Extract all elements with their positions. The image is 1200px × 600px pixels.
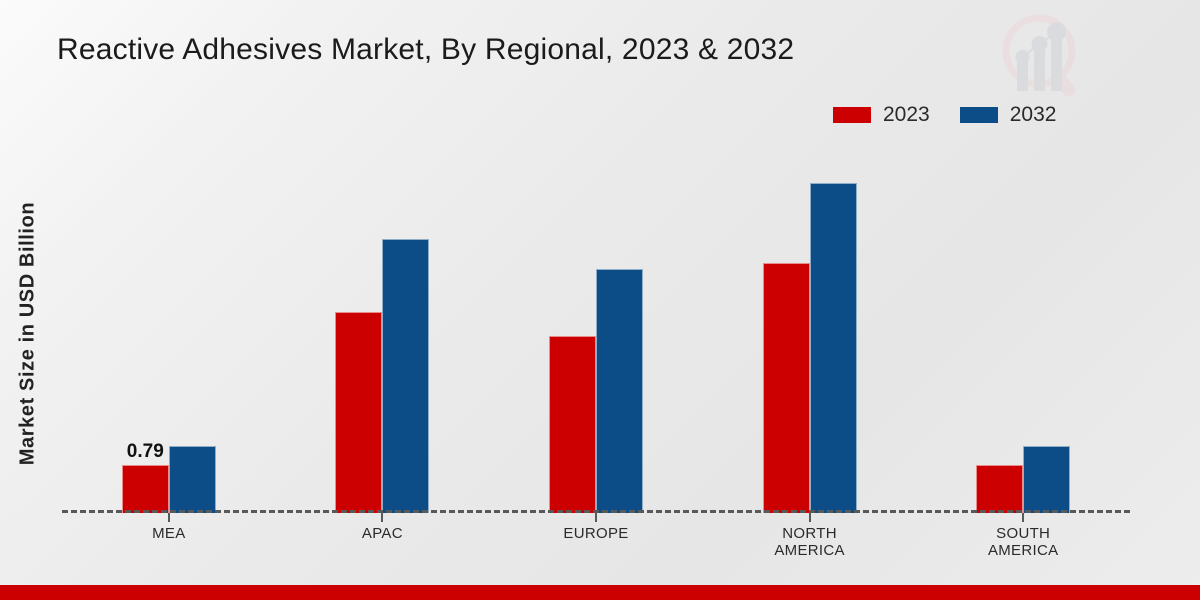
- bar-mea-2023[interactable]: 0.79: [122, 465, 169, 513]
- legend-swatch-2023: [833, 107, 871, 123]
- bar-south-america-2032[interactable]: [1023, 446, 1070, 513]
- axis-tick-north-america: [809, 513, 811, 522]
- footer-accent-bar: [0, 585, 1200, 600]
- page-title: Reactive Adhesives Market, By Regional, …: [57, 33, 794, 67]
- bar-apac-2023[interactable]: [335, 312, 382, 513]
- x-label-north-america: NORTH AMERICA: [703, 525, 917, 559]
- bar-group-south-america: [916, 150, 1130, 513]
- legend-item-2023[interactable]: 2023: [833, 103, 930, 127]
- x-label-south-america: SOUTH AMERICA: [916, 525, 1130, 559]
- x-axis-labels: MEA APAC EUROPE NORTH AMERICA SOUTH AMER…: [62, 525, 1130, 559]
- y-axis-title: Market Size in USD Billion: [17, 164, 40, 504]
- x-label-mea: MEA: [62, 525, 276, 559]
- bar-north-america-2023[interactable]: [763, 263, 810, 513]
- bar-value-mea-2023: 0.79: [127, 441, 164, 463]
- legend-label-2032: 2032: [1010, 103, 1057, 127]
- market-research-future-logo-watermark: [992, 8, 1092, 104]
- bar-group-apac: [276, 150, 490, 513]
- x-label-apac: APAC: [276, 525, 490, 559]
- legend: 2023 2032: [833, 103, 1056, 127]
- axis-tick-south-america: [1022, 513, 1024, 522]
- x-axis-baseline: [62, 510, 1130, 513]
- bar-apac-2032[interactable]: [382, 239, 429, 513]
- bar-group-north-america: [703, 150, 917, 513]
- plot-area: 0.79: [62, 150, 1130, 513]
- axis-tick-europe: [595, 513, 597, 522]
- bar-mea-2032[interactable]: [169, 446, 216, 513]
- axis-tick-apac: [381, 513, 383, 522]
- bar-groups: 0.79: [62, 150, 1130, 513]
- bar-group-europe: [489, 150, 703, 513]
- bar-south-america-2023[interactable]: [976, 465, 1023, 513]
- x-label-europe: EUROPE: [489, 525, 703, 559]
- legend-swatch-2032: [960, 107, 998, 123]
- legend-label-2023: 2023: [883, 103, 930, 127]
- axis-tick-mea: [168, 513, 170, 522]
- bar-north-america-2032[interactable]: [810, 183, 857, 513]
- bar-europe-2032[interactable]: [596, 269, 643, 513]
- legend-item-2032[interactable]: 2032: [960, 103, 1057, 127]
- chart-canvas: Reactive Adhesives Market, By Regional, …: [0, 0, 1200, 600]
- bar-group-mea: 0.79: [62, 150, 276, 513]
- bar-europe-2023[interactable]: [549, 336, 596, 513]
